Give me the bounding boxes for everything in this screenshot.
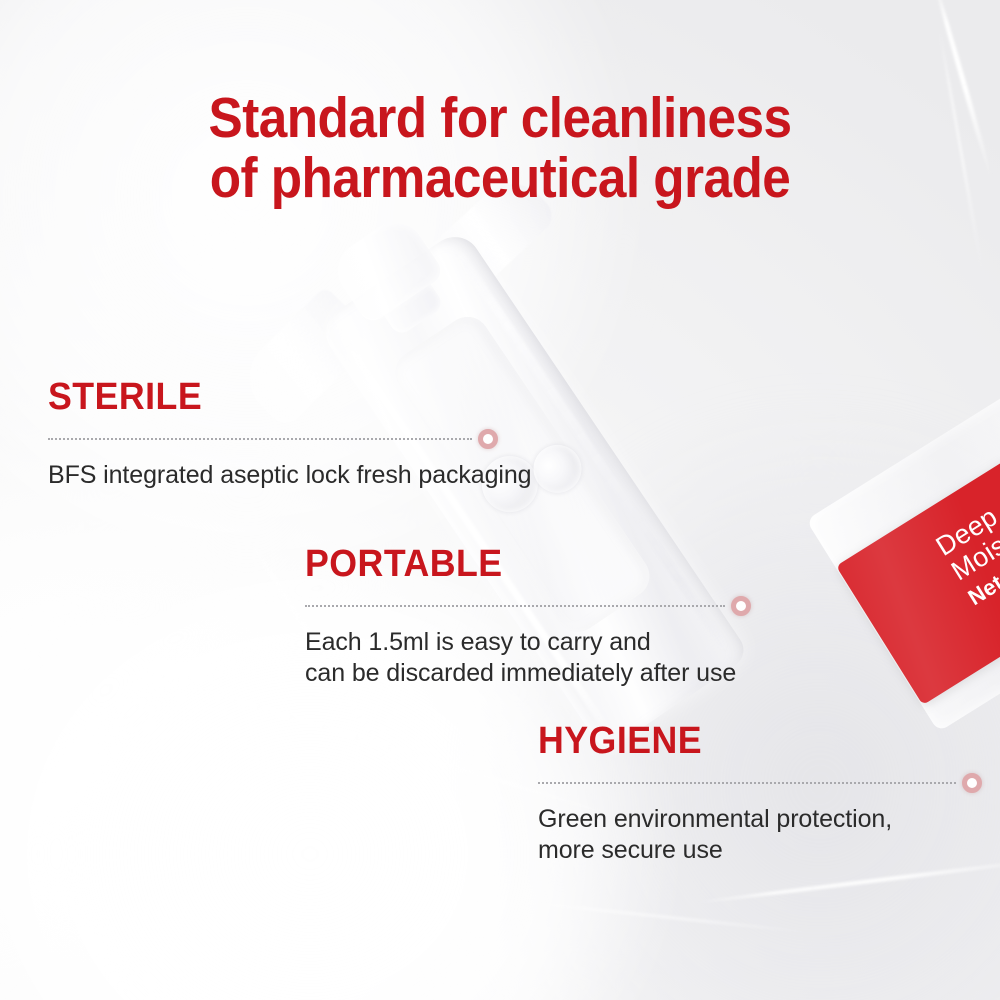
callout-marker-icon bbox=[962, 773, 982, 793]
callout-marker-icon bbox=[731, 596, 751, 616]
page-title-line-1: Standard for cleanliness bbox=[50, 88, 950, 148]
feature-portable-title: PORTABLE bbox=[305, 545, 710, 583]
feature-portable-rule bbox=[305, 600, 736, 612]
feature-portable: PORTABLE Each 1.5ml is easy to carry and… bbox=[305, 545, 736, 688]
feature-sterile: STERILE BFS integrated aseptic lock fres… bbox=[48, 378, 531, 491]
page-title: Standard for cleanliness of pharmaceutic… bbox=[50, 88, 950, 209]
feature-sterile-body: BFS integrated aseptic lock fresh packag… bbox=[48, 460, 531, 491]
product-infographic-poster: Deep C Moisture Net: 1.5 ml/0.05 Standar… bbox=[0, 0, 1000, 1000]
callout-marker-icon bbox=[478, 429, 498, 449]
feature-hygiene: HYGIENE Green environmental protection, … bbox=[538, 722, 892, 865]
dotted-line bbox=[305, 605, 725, 607]
page-title-line-2: of pharmaceutical grade bbox=[50, 148, 950, 208]
feature-portable-body: Each 1.5ml is easy to carry and can be d… bbox=[305, 627, 736, 688]
feature-hygiene-title: HYGIENE bbox=[538, 722, 871, 760]
feature-sterile-rule bbox=[48, 433, 531, 445]
dotted-line bbox=[48, 438, 472, 440]
dotted-line bbox=[538, 782, 956, 784]
feature-hygiene-rule bbox=[538, 777, 892, 789]
feature-sterile-title: STERILE bbox=[48, 378, 502, 416]
feature-hygiene-body: Green environmental protection, more sec… bbox=[538, 804, 892, 865]
